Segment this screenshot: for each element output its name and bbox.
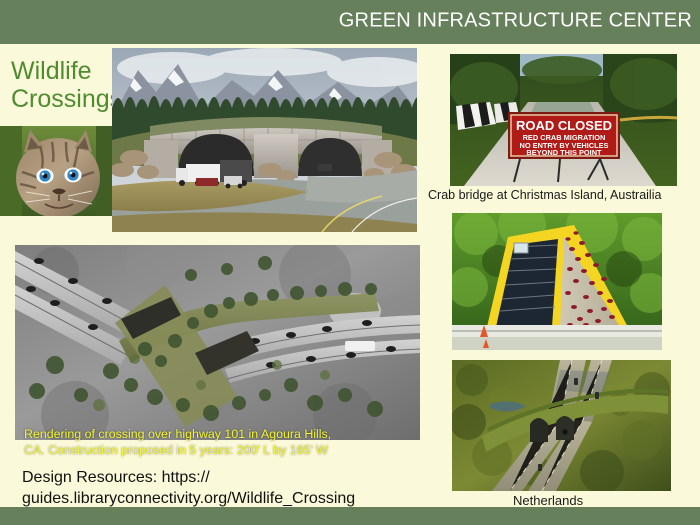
bobcat-kitten-photo [0,126,112,216]
banff-wildlife-overpass-photo [112,48,417,232]
organization-title: GREEN INFRASTRUCTURE CENTER [339,10,692,33]
slide-root: GREEN INFRASTRUCTURE CENTER Wildlife Cro… [0,0,700,525]
sign-line-1: ROAD CLOSED [516,118,612,133]
crab-bridge-ramp-photo [452,213,662,350]
netherlands-caption: Netherlands [513,493,583,508]
agoura-hills-crossing-rendering [15,245,420,440]
crab-bridge-caption: Crab bridge at Christmas Island, Austrai… [428,188,661,202]
footer-bar [0,507,700,525]
road-closed-sign-photo: ROAD CLOSED RED CRAB MIGRATION NO ENTRY … [450,54,677,186]
netherlands-ecoduct-aerial-photo [452,360,671,491]
sign-line-4: BEYOND THIS POINT [526,148,602,157]
design-resources-text: Design Resources: https:// guides.librar… [22,468,442,510]
rendering-overlay-caption: Rendering of crossing over highway 101 i… [24,427,424,458]
